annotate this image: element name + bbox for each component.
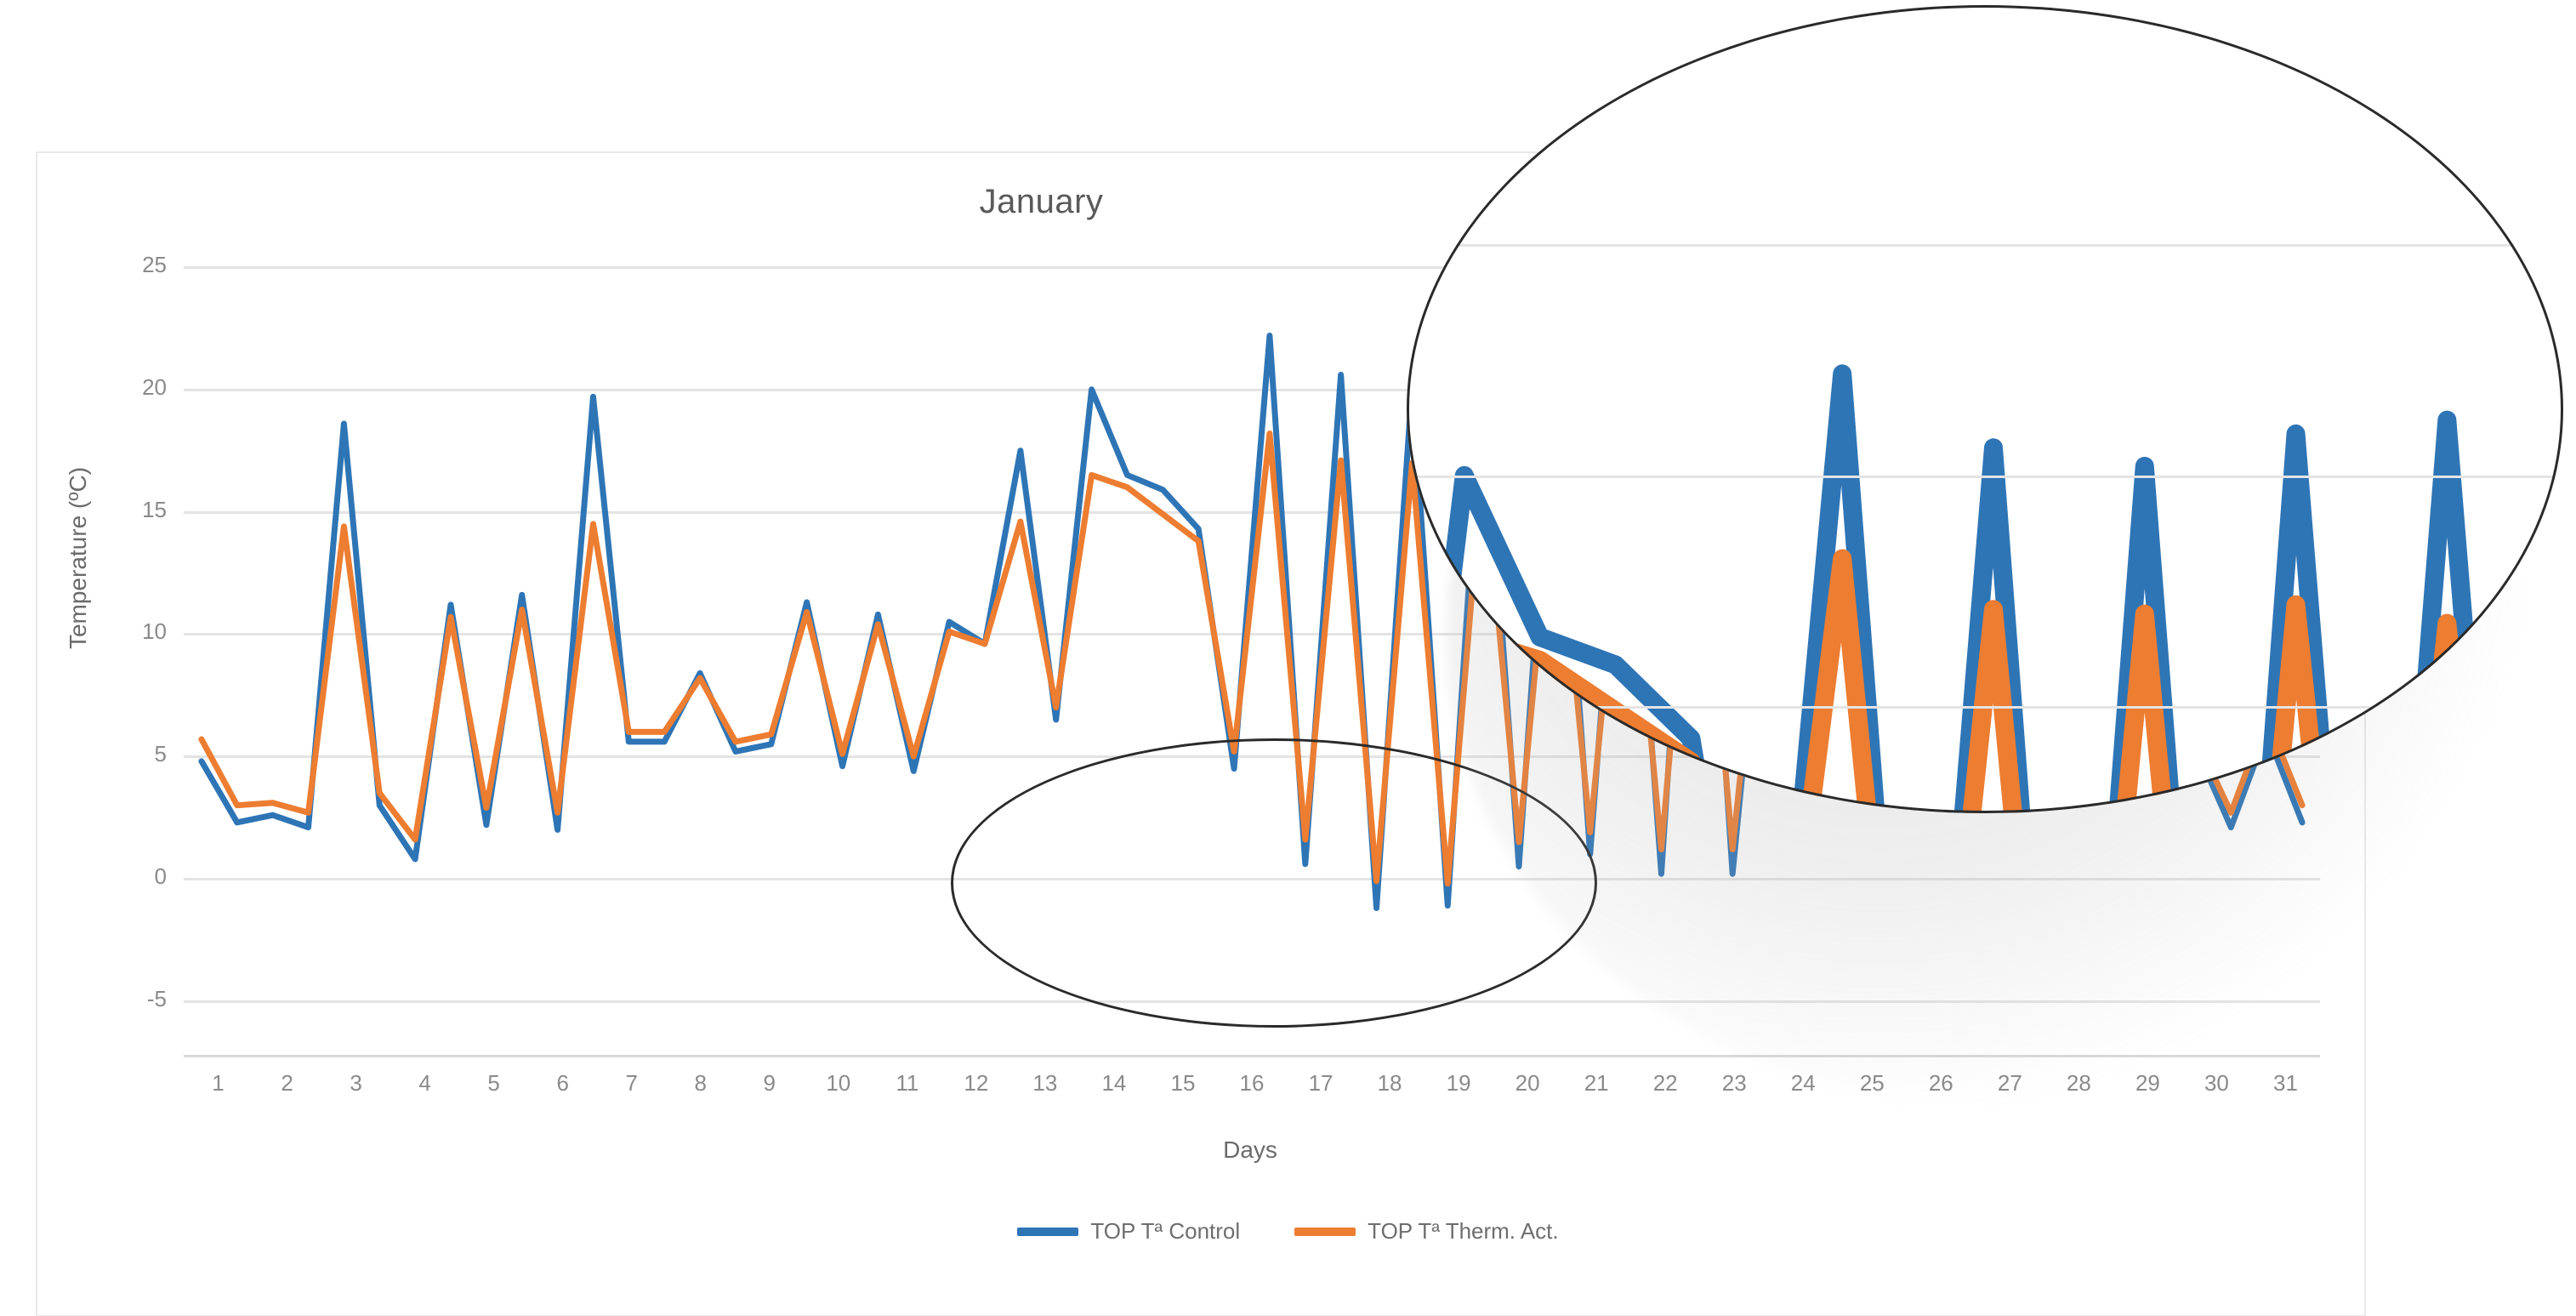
inset-gridline — [1407, 476, 2563, 478]
inset-gridline — [1407, 706, 2563, 709]
magnified-inset — [1407, 5, 2563, 813]
inset-clip — [1407, 5, 2563, 813]
legend-label-therm: TOP Tª Therm. Act. — [1368, 1218, 1558, 1245]
legend-swatch-therm — [1294, 1228, 1356, 1236]
legend: TOP Tª Control TOP Tª Therm. Act. — [0, 1218, 2576, 1245]
inset-gridline — [1407, 244, 2563, 247]
legend-label-control: TOP Tª Control — [1090, 1218, 1240, 1245]
inset-series-plot — [1407, 5, 2563, 813]
legend-item-therm[interactable]: TOP Tª Therm. Act. — [1294, 1218, 1558, 1245]
legend-item-control[interactable]: TOP Tª Control — [1017, 1218, 1240, 1245]
chart-page: January Temperature (ºC) Days 2520151050… — [0, 0, 2576, 1316]
legend-swatch-control — [1017, 1228, 1078, 1236]
